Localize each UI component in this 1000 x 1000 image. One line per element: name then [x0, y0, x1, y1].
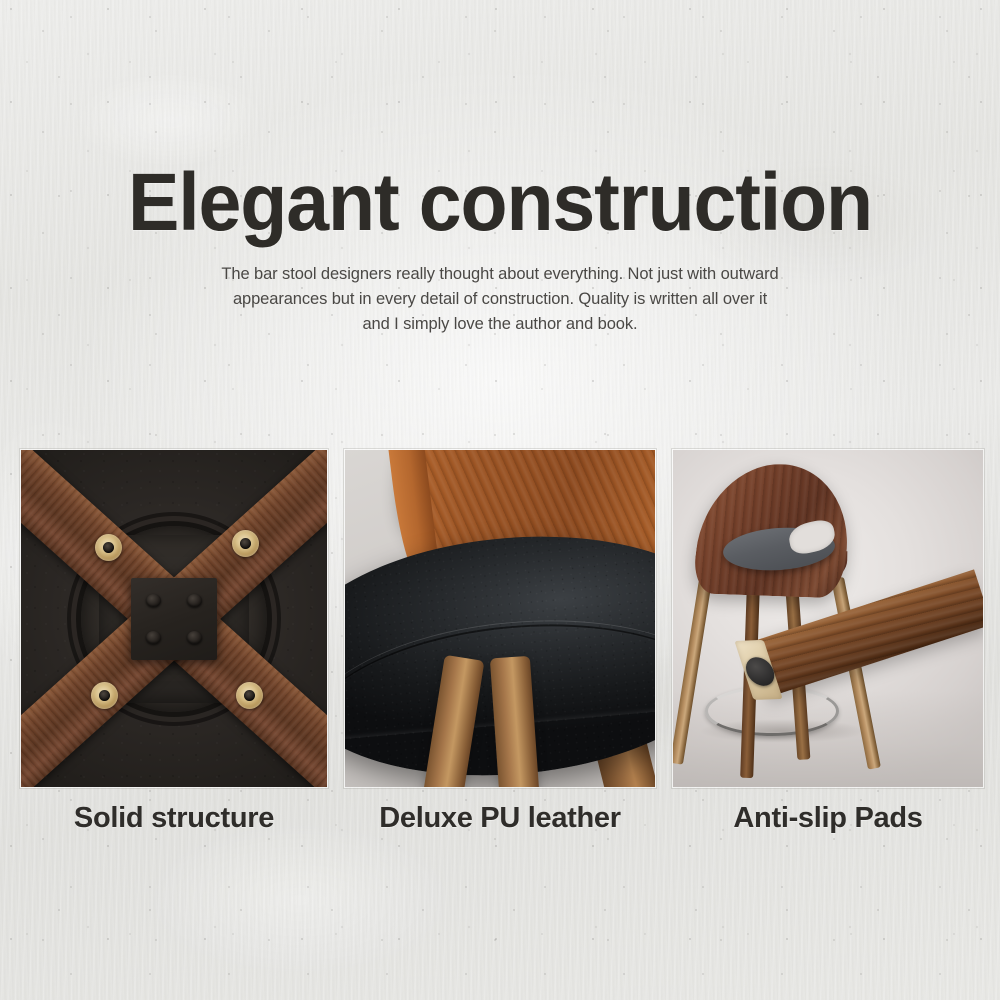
bolt-icon [187, 631, 202, 644]
brass-fitting-icon [232, 530, 259, 557]
bolt-icon [146, 631, 161, 644]
brass-fitting-icon [95, 534, 122, 561]
bolt-icon [146, 594, 161, 607]
caption-anti-slip-pads: Anti-slip Pads [672, 798, 984, 838]
bolt-icon [187, 594, 202, 607]
caption-solid-structure: Solid structure [20, 798, 328, 838]
feature-panel-row [20, 449, 984, 788]
feature-image-deluxe-pu-leather [344, 449, 656, 788]
page-subtitle: The bar stool designers really thought a… [220, 262, 780, 337]
feature-image-anti-slip-pads [672, 449, 984, 788]
brass-fitting-icon [91, 682, 118, 709]
brass-fitting-icon [236, 682, 263, 709]
page-title: Elegant construction [30, 160, 970, 246]
caption-row: Solid structure Deluxe PU leather Anti-s… [20, 798, 984, 838]
caption-deluxe-pu-leather: Deluxe PU leather [344, 798, 656, 838]
center-mounting-plate [131, 578, 217, 660]
product-feature-poster: Elegant construction The bar stool desig… [0, 0, 1000, 1000]
feature-image-solid-structure [20, 449, 328, 788]
